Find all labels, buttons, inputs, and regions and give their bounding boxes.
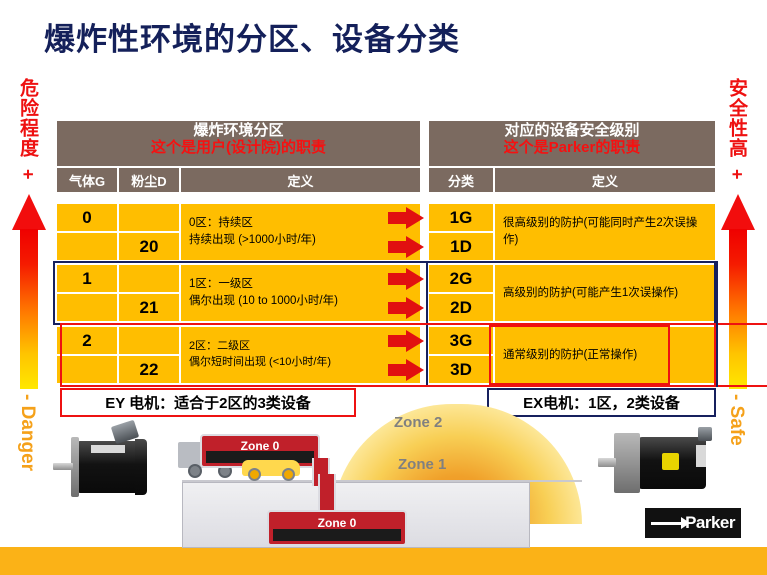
left-col-header-definition: 定义: [180, 167, 421, 193]
left-cell-gas-1: 1: [56, 264, 118, 293]
right-cell-definition-0: 很高级别的防护(可能同时产生2次误操作): [494, 203, 716, 261]
right-table-header: 对应的设备安全级别 这个是Parker的职责: [428, 120, 716, 167]
right-table-header-line2: 这个是Parker的职责: [429, 140, 715, 157]
danger-gradient-arrow-icon: [12, 194, 46, 389]
danger-axis: 危险程度 + - Danger: [2, 64, 56, 524]
left-cell-dust-blank-1: [118, 264, 180, 293]
right-cell-definition-1: 高级别的防护(可能产生1次误操作): [494, 264, 716, 322]
map-arrow-icon-2: [388, 236, 424, 258]
safety-axis-plus: +: [728, 169, 746, 180]
map-arrow-icon-5: [388, 330, 424, 352]
slide-canvas: 爆炸性环境的分区、设备分类 危险程度 + - Danger 安全性高 + - S…: [0, 0, 767, 575]
safety-axis-cn-label: 安全性高: [727, 78, 746, 158]
left-def-2-line1: 2区：二级区: [189, 339, 331, 355]
left-def-0-line1: 0区：持续区: [189, 215, 316, 232]
right-col-header-definition: 定义: [494, 167, 716, 193]
map-arrow-icon-3: [388, 268, 424, 290]
ex-motor-image: [600, 425, 730, 520]
left-cell-definition-1: 1区：一级区 偶尔出现 (10 to 1000小时/年): [180, 264, 421, 322]
zone1-label: Zone 1: [398, 456, 446, 473]
right-cell-class-dust-0: 1D: [428, 232, 494, 261]
left-def-0-line2: 持续出现 (>1000小时/年): [189, 232, 316, 249]
left-def-1-line1: 1区：一级区: [189, 276, 338, 293]
car-wheel-rear: [282, 468, 295, 481]
left-cell-dust-0: 20: [118, 232, 180, 261]
parker-logo-text: Parker: [685, 513, 741, 533]
left-def-1-line2: 偶尔出现 (10 to 1000小时/年): [189, 293, 338, 310]
left-col-header-dust: 粉尘D: [118, 167, 180, 193]
left-cell-definition-2: 2区：二级区 偶尔短时间出现 (<10小时/年): [180, 326, 421, 384]
zone-illustration: Zone 2 Zone 1 Zone 0 Zone 0: [182, 410, 582, 550]
zone2-label: Zone 2: [394, 414, 442, 431]
left-cell-dust-blank-0: [118, 203, 180, 232]
left-cell-gas-2: 2: [56, 326, 118, 355]
left-table-header-line2: 这个是用户(设计院)的职责: [57, 140, 420, 157]
left-def-2-line2: 偶尔短时间出现 (<10小时/年): [189, 355, 331, 371]
right-cell-class-gas-0: 1G: [428, 203, 494, 232]
tanker-zone0-label: Zone 0: [241, 439, 280, 453]
left-cell-dust-blank-2: [118, 326, 180, 355]
left-cell-gas-0: 0: [56, 203, 118, 232]
left-cell-definition-0: 0区：持续区 持续出现 (>1000小时/年): [180, 203, 421, 261]
left-col-header-gas: 气体G: [56, 167, 118, 193]
right-cell-definition-2: 通常级别的防护(正常操作): [494, 326, 716, 384]
underground-zone0-label: Zone 0: [318, 516, 357, 530]
right-col-header-class: 分类: [428, 167, 494, 193]
map-arrow-icon-6: [388, 359, 424, 381]
map-arrow-icon-1: [388, 207, 424, 229]
ey-motor-image: [55, 425, 180, 520]
page-title: 爆炸性环境的分区、设备分类: [44, 14, 460, 59]
left-cell-dust-2: 22: [118, 355, 180, 384]
parker-logo: Parker: [645, 508, 741, 538]
underground-zone0: Zone 0: [267, 510, 407, 546]
right-cell-class-dust-1: 2D: [428, 293, 494, 322]
danger-axis-plus: +: [19, 169, 37, 180]
left-table-header-line1: 爆炸环境分区: [57, 123, 420, 140]
danger-axis-en-label: - Danger: [18, 394, 37, 471]
car-wheel-front: [248, 468, 261, 481]
map-arrow-icon-4: [388, 297, 424, 319]
right-cell-class-dust-2: 3D: [428, 355, 494, 384]
right-cell-class-gas-2: 3G: [428, 326, 494, 355]
safety-gradient-arrow-icon: [721, 194, 755, 389]
left-cell-gas-blank-1: [56, 293, 118, 322]
left-table-header: 爆炸环境分区 这个是用户(设计院)的职责: [56, 120, 421, 167]
bottom-color-band: [0, 547, 767, 575]
right-table-header-line1: 对应的设备安全级别: [429, 123, 715, 140]
right-cell-class-gas-1: 2G: [428, 264, 494, 293]
left-cell-gas-blank-0: [56, 232, 118, 261]
left-cell-dust-1: 21: [118, 293, 180, 322]
left-cell-gas-blank-2: [56, 355, 118, 384]
danger-axis-cn-label: 危险程度: [18, 78, 37, 158]
